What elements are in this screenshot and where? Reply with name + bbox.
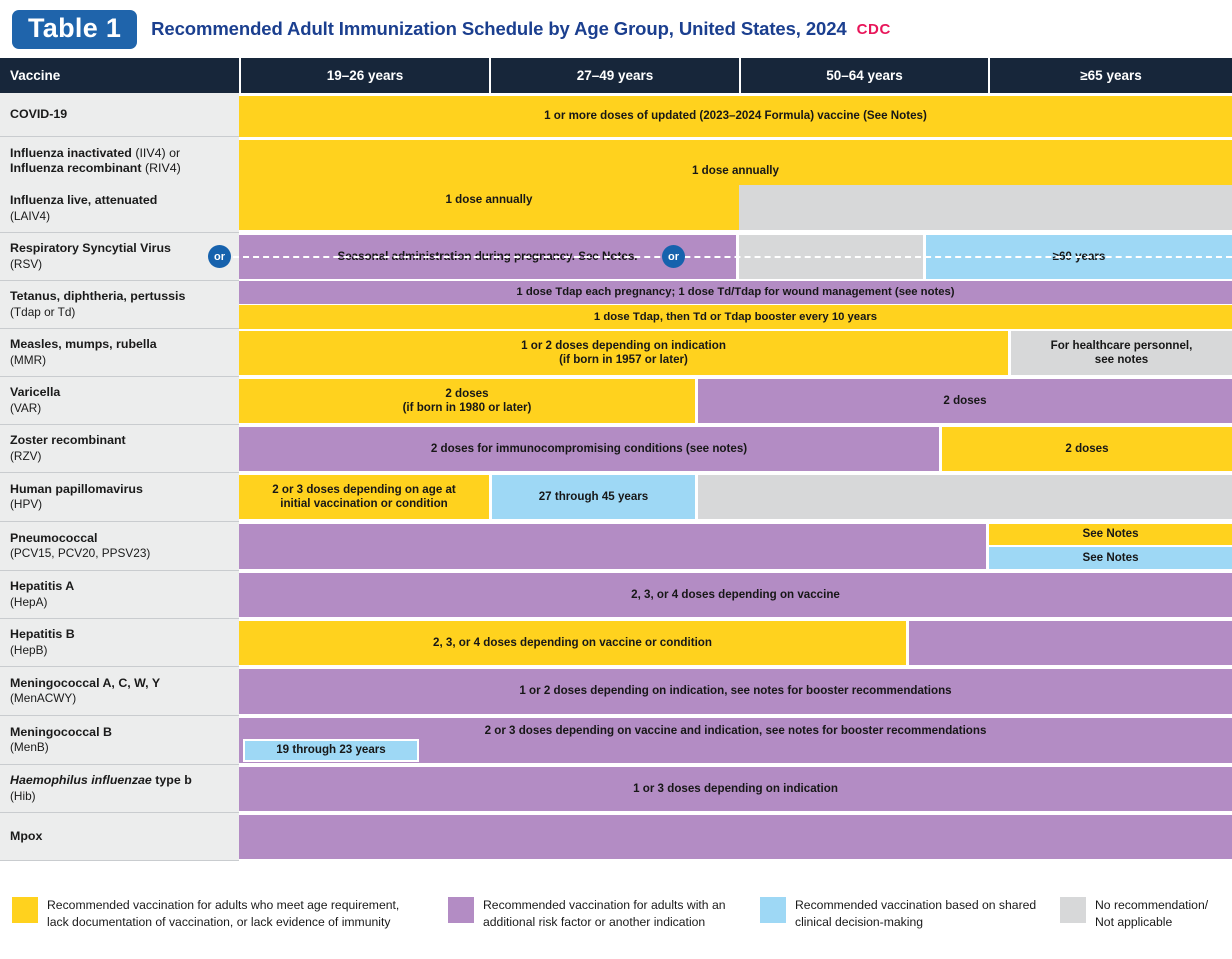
vaccine-subname: (MenACWY) bbox=[10, 691, 233, 706]
legend-gray-line2: Not applicable bbox=[1095, 914, 1208, 931]
vaccine-name-line2: Influenza recombinant bbox=[10, 161, 142, 175]
table-title-bar: Table 1 Recommended Adult Immunization S… bbox=[0, 0, 1232, 58]
vaccine-name-line2-suffix: (RIV4) bbox=[145, 161, 181, 175]
vaccine-subname: (RZV) bbox=[10, 449, 233, 464]
table-row-menb: Meningococcal B (MenB) 2 or 3 doses depe… bbox=[0, 716, 1232, 765]
table-row-zoster: Zoster recombinant (RZV) 2 doses for imm… bbox=[0, 425, 1232, 473]
vaccine-name: Meningococcal A, C, W, Y bbox=[10, 676, 233, 692]
vaccine-name: Zoster recombinant bbox=[10, 433, 233, 449]
vaccine-name: Respiratory Syncytial Virus bbox=[10, 241, 233, 257]
cell-zoster-immunocompromised: 2 doses for immunocompromising condition… bbox=[239, 427, 939, 471]
legend-gray-line1: No recommendation/ bbox=[1095, 897, 1208, 914]
cell-zoster-doses: 2 doses bbox=[942, 427, 1232, 471]
cell-hepatitis-a-all: 2, 3, or 4 doses depending on vaccine bbox=[239, 573, 1232, 617]
vaccine-name: Varicella bbox=[10, 385, 233, 401]
legend-item-yellow: Recommended vaccination for adults who m… bbox=[12, 897, 399, 931]
table-row-hepatitis-a: Hepatitis A (HepA) 2, 3, or 4 doses depe… bbox=[0, 571, 1232, 619]
vaccine-subname: (RSV) bbox=[10, 257, 233, 272]
legend: Recommended vaccination for adults who m… bbox=[0, 885, 1232, 945]
or-badge-middle: or bbox=[662, 245, 685, 268]
table-row-influenza-laiv: Influenza live, attenuated (LAIV4) 1 dos… bbox=[0, 185, 1232, 233]
page-title: Recommended Adult Immunization Schedule … bbox=[151, 18, 846, 40]
vaccine-name: Pneumococcal bbox=[10, 531, 233, 547]
legend-blue-line1: Recommended vaccination based on shared bbox=[795, 897, 1036, 914]
vaccine-name: Human papillomavirus bbox=[10, 482, 233, 498]
vaccine-label-mmr: Measles, mumps, rubella (MMR) bbox=[0, 329, 239, 377]
table-header-row: Vaccine 19–26 years 27–49 years 50–64 ye… bbox=[0, 58, 1232, 93]
vaccine-subname: (Tdap or Td) bbox=[10, 305, 233, 320]
vaccine-label-influenza-laiv: Influenza live, attenuated (LAIV4) bbox=[0, 185, 239, 233]
table-row-influenza-inactivated: Influenza inactivated (IIV4) or Influenz… bbox=[0, 137, 1232, 185]
vaccine-name: Measles, mumps, rubella bbox=[10, 337, 233, 353]
legend-item-blue: Recommended vaccination based on shared … bbox=[760, 897, 1036, 931]
vaccine-label-menacwy: Meningococcal A, C, W, Y (MenACWY) bbox=[0, 667, 239, 716]
vaccine-subname: (Hib) bbox=[10, 789, 233, 804]
vaccine-name: Hepatitis B bbox=[10, 627, 233, 643]
legend-purple-line1: Recommended vaccination for adults with … bbox=[483, 897, 726, 914]
legend-swatch-gray-icon bbox=[1060, 897, 1086, 923]
vaccine-label-hepatitis-a: Hepatitis A (HepA) bbox=[0, 571, 239, 619]
vaccine-name-line1-suffix: (IIV4) or bbox=[135, 146, 180, 160]
vaccine-name-line1: Influenza inactivated bbox=[10, 146, 132, 160]
vaccine-subname: (HepB) bbox=[10, 643, 233, 658]
vaccine-label-mpox: Mpox bbox=[0, 813, 239, 861]
vaccine-label-influenza-inactivated: Influenza inactivated (IIV4) or Influenz… bbox=[0, 137, 239, 185]
vaccine-label-rsv: Respiratory Syncytial Virus (RSV) bbox=[0, 233, 239, 281]
vaccine-label-pneumococcal: Pneumococcal (PCV15, PCV20, PPSV23) bbox=[0, 522, 239, 571]
cell-pneumococcal-see-notes-yellow: See Notes bbox=[989, 524, 1232, 545]
vaccine-name: Mpox bbox=[10, 829, 233, 845]
vaccine-name: Hepatitis A bbox=[10, 579, 233, 595]
column-header-vaccine: Vaccine bbox=[0, 58, 239, 93]
vaccine-subname: (PCV15, PCV20, PPSV23) bbox=[10, 546, 233, 561]
legend-blue-line2: clinical decision-making bbox=[795, 914, 1036, 931]
vaccine-name: Haemophilus influenzae type b bbox=[10, 773, 233, 789]
vaccine-name: COVID-19 bbox=[10, 107, 233, 123]
cell-hib-all: 1 or 3 doses depending on indication bbox=[239, 767, 1232, 811]
column-header-19-26: 19–26 years bbox=[239, 58, 489, 93]
vaccine-name: Influenza live, attenuated bbox=[10, 193, 233, 209]
vaccine-subname: (MenB) bbox=[10, 740, 233, 755]
table-row-covid19: COVID-19 1 or more doses of updated (202… bbox=[0, 93, 1232, 137]
cell-hpv-19-26: 2 or 3 doses depending on age atinitial … bbox=[239, 475, 489, 519]
legend-purple-line2: additional risk factor or another indica… bbox=[483, 914, 726, 931]
vaccine-label-hib: Haemophilus influenzae type b (Hib) bbox=[0, 765, 239, 813]
vaccine-subname: (HPV) bbox=[10, 497, 233, 512]
cell-varicella-young: 2 doses(if born in 1980 or later) bbox=[239, 379, 695, 423]
vaccine-label-hepatitis-b: Hepatitis B (HepB) bbox=[0, 619, 239, 667]
legend-item-purple: Recommended vaccination for adults with … bbox=[448, 897, 726, 931]
table-row-mpox: Mpox bbox=[0, 813, 1232, 861]
vaccine-label-varicella: Varicella (VAR) bbox=[0, 377, 239, 425]
cell-influenza-inactivated-all-ages: 1 dose annually bbox=[239, 140, 1232, 185]
cell-mmr-main: 1 or 2 doses depending on indication(if … bbox=[239, 331, 1008, 375]
legend-yellow-line1: Recommended vaccination for adults who m… bbox=[47, 897, 399, 914]
vaccine-label-covid19: COVID-19 bbox=[0, 93, 239, 137]
cell-pneumococcal-risk bbox=[239, 524, 986, 569]
cell-menacwy-all: 1 or 2 doses depending on indication, se… bbox=[239, 669, 1232, 714]
vaccine-label-menb: Meningococcal B (MenB) bbox=[0, 716, 239, 765]
or-badge-left: or bbox=[208, 245, 231, 268]
cell-varicella-older: 2 doses bbox=[698, 379, 1232, 423]
table-row-tdap: Tetanus, diphtheria, pertussis (Tdap or … bbox=[0, 281, 1232, 329]
column-header-50-64: 50–64 years bbox=[739, 58, 988, 93]
cell-pneumococcal-see-notes-blue: See Notes bbox=[989, 547, 1232, 569]
legend-swatch-blue-icon bbox=[760, 897, 786, 923]
table-row-hepatitis-b: Hepatitis B (HepB) 2, 3, or 4 doses depe… bbox=[0, 619, 1232, 667]
cdc-logo: CDC bbox=[857, 21, 891, 38]
cell-hpv-gray bbox=[698, 475, 1232, 519]
table-row-hib: Haemophilus influenzae type b (Hib) 1 or… bbox=[0, 765, 1232, 813]
cell-influenza-laiv-older bbox=[739, 185, 1232, 230]
table-row-menacwy: Meningococcal A, C, W, Y (MenACWY) 1 or … bbox=[0, 667, 1232, 716]
legend-item-gray: No recommendation/ Not applicable bbox=[1060, 897, 1208, 931]
vaccine-subname: (VAR) bbox=[10, 401, 233, 416]
legend-yellow-line2: lack documentation of vaccination, or la… bbox=[47, 914, 399, 931]
vaccine-name: Meningococcal B bbox=[10, 725, 233, 741]
column-header-27-49: 27–49 years bbox=[489, 58, 739, 93]
vaccine-label-hpv: Human papillomavirus (HPV) bbox=[0, 473, 239, 522]
table-row-pneumococcal: Pneumococcal (PCV15, PCV20, PPSV23) See … bbox=[0, 522, 1232, 571]
vaccine-subname: (HepA) bbox=[10, 595, 233, 610]
column-header-65plus: ≥65 years bbox=[988, 58, 1232, 93]
cell-mpox-all bbox=[239, 815, 1232, 859]
vaccine-subname: (MMR) bbox=[10, 353, 233, 368]
influenza-or-divider bbox=[233, 256, 1232, 258]
vaccine-subname: (LAIV4) bbox=[10, 209, 233, 224]
legend-swatch-yellow-icon bbox=[12, 897, 38, 923]
cell-hepatitis-b-main: 2, 3, or 4 doses depending on vaccine or… bbox=[239, 621, 906, 665]
cell-hpv-27-45: 27 through 45 years bbox=[492, 475, 695, 519]
table-row-hpv: Human papillomavirus (HPV) 2 or 3 doses … bbox=[0, 473, 1232, 522]
vaccine-label-zoster: Zoster recombinant (RZV) bbox=[0, 425, 239, 473]
cell-menb-19-23: 19 through 23 years bbox=[243, 739, 419, 762]
vaccine-label-tdap: Tetanus, diphtheria, pertussis (Tdap or … bbox=[0, 281, 239, 329]
table-row-varicella: Varicella (VAR) 2 doses(if born in 1980 … bbox=[0, 377, 1232, 425]
cell-influenza-laiv-young: 1 dose annually bbox=[239, 185, 739, 230]
cell-covid19-all-ages: 1 or more doses of updated (2023–2024 Fo… bbox=[239, 96, 1232, 137]
cell-tdap-pregnancy: 1 dose Tdap each pregnancy; 1 dose Td/Td… bbox=[239, 281, 1232, 304]
table-number-badge: Table 1 bbox=[12, 10, 137, 49]
table-row-mmr: Measles, mumps, rubella (MMR) 1 or 2 dos… bbox=[0, 329, 1232, 377]
cell-hepatitis-b-risk bbox=[909, 621, 1232, 665]
cell-mmr-healthcare: For healthcare personnel,see notes bbox=[1011, 331, 1232, 375]
vaccine-name: Tetanus, diphtheria, pertussis bbox=[10, 289, 233, 305]
cell-tdap-booster: 1 dose Tdap, then Td or Tdap booster eve… bbox=[239, 305, 1232, 329]
immunization-schedule-table: Vaccine 19–26 years 27–49 years 50–64 ye… bbox=[0, 58, 1232, 861]
legend-swatch-purple-icon bbox=[448, 897, 474, 923]
